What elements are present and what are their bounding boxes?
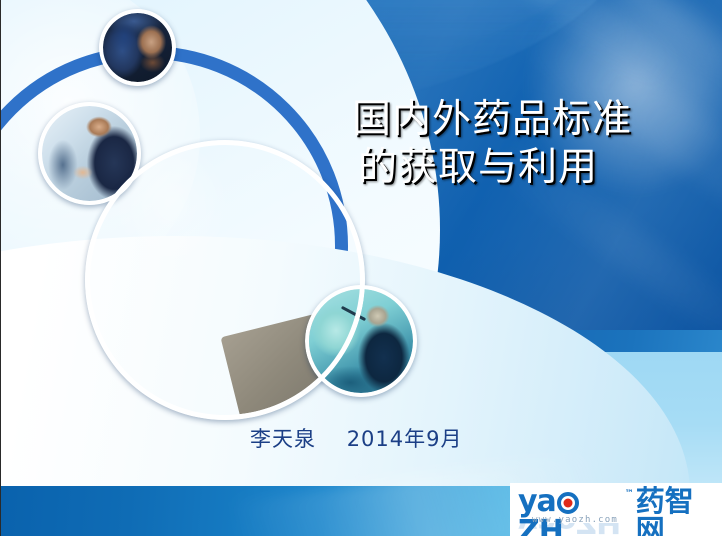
logo-reflection-text: yaoZH (518, 523, 620, 536)
slide-title: 国内外药品标准 的获取与利用 (352, 96, 692, 191)
pointer-stick (341, 306, 366, 321)
photo-presenter (305, 285, 417, 397)
photo-thinker-shade (109, 19, 141, 54)
presentation-slide: 国内外药品标准 的获取与利用 李天泉 2014年9月 yaZH ™ 药智网 ww… (0, 0, 722, 536)
slide-subtitle: 李天泉 2014年9月 (250, 423, 463, 453)
trademark-symbol: ™ (625, 489, 634, 499)
title-line-1: 国内外药品标准 (352, 96, 692, 144)
photo-thinker-image (103, 13, 172, 82)
logo-o-icon (557, 492, 579, 514)
logo-reflection: yaoZH (518, 523, 718, 536)
yaozh-logo-panel[interactable]: yaZH ™ 药智网 www.yaozh.com yaoZH (510, 483, 722, 536)
title-line-2: 的获取与利用 (352, 144, 692, 192)
photo-thinker (99, 9, 176, 86)
photo-presenter-image (309, 289, 413, 393)
